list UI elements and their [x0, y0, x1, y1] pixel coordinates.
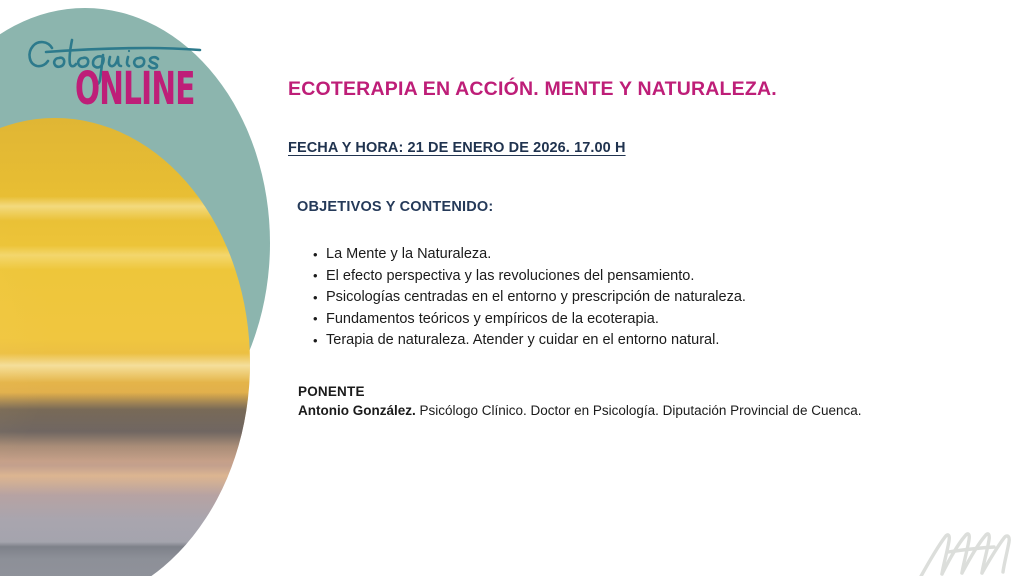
speaker-details: Antonio González. Psicólogo Clínico. Doc… [298, 401, 861, 420]
speaker-bio: Psicólogo Clínico. Doctor en Psicología.… [416, 403, 862, 418]
list-item: El efecto perspectiva y las revoluciones… [326, 266, 746, 288]
list-item: Fundamentos teóricos y empíricos de la e… [326, 309, 746, 331]
presentation-slide: ONLINE ECOTERAPIA EN ACCIÓN. MENTE Y NAT… [0, 0, 1024, 576]
sunset-sky-image [0, 118, 250, 576]
date-time-line: FECHA Y HORA: 21 DE ENERO DE 2026. 17.00… [288, 140, 626, 156]
list-item: Terapia de naturaleza. Atender y cuidar … [326, 330, 746, 352]
page-title: ECOTERAPIA EN ACCIÓN. MENTE Y NATURALEZA… [288, 78, 777, 101]
speaker-name: Antonio González. [298, 403, 416, 418]
sunset-photo-circle [0, 118, 250, 576]
speaker-label: PONENTE [298, 382, 861, 401]
objectives-list: La Mente y la Naturaleza. El efecto pers… [305, 244, 746, 352]
online-wordmark: ONLINE [75, 66, 195, 111]
coloquios-online-logo: ONLINE [18, 28, 223, 110]
list-item: Psicologías centradas en el entorno y pr… [326, 287, 746, 309]
slide-content: ECOTERAPIA EN ACCIÓN. MENTE Y NATURALEZA… [288, 0, 988, 576]
speaker-block: PONENTE Antonio González. Psicólogo Clín… [298, 382, 861, 420]
list-item: La Mente y la Naturaleza. [326, 244, 746, 266]
objectives-heading: OBJETIVOS Y CONTENIDO: [297, 199, 493, 215]
